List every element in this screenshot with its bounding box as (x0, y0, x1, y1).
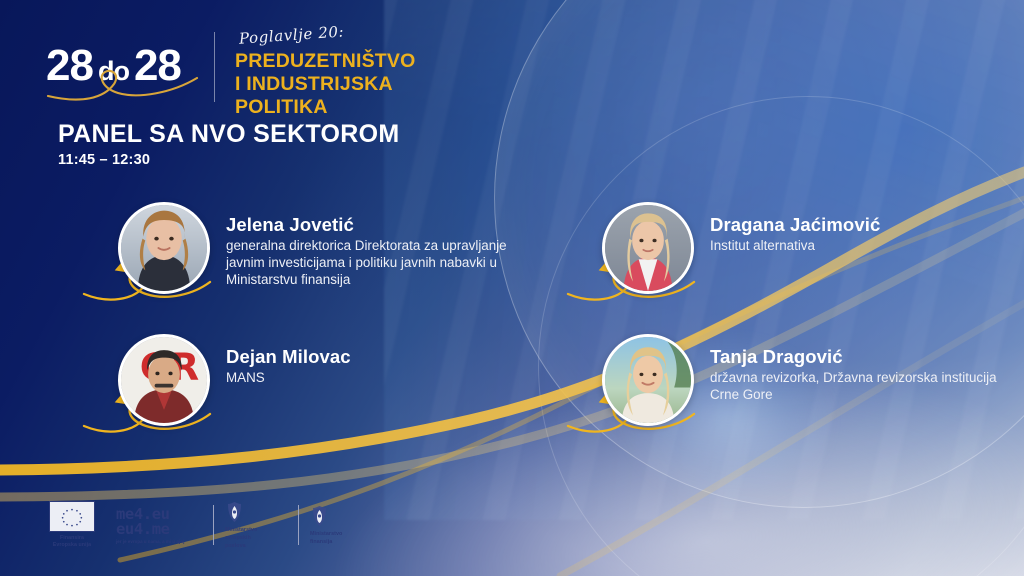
speaker-portrait (605, 337, 691, 423)
speaker-portrait: GR (121, 337, 207, 423)
ministry2-caption: Ministarstvo finansija (310, 530, 342, 546)
chapter-block: Poglavlje 20: PREDUZETNIŠTVO I INDUSTRIJ… (235, 30, 415, 118)
header-divider (214, 32, 215, 102)
speaker-text: Dragana Jaćimović Institut alternativa (694, 202, 880, 254)
eu-funding-logo: Finansira Evropska unija (36, 501, 108, 549)
eu-caption-line-1: Finansira (53, 535, 91, 542)
speaker-portrait (121, 205, 207, 291)
speaker-portrait (605, 205, 691, 291)
avatar: GR (118, 334, 210, 426)
chapter-title-line-3: POLITIKA (235, 96, 415, 119)
speaker-card: Tanja Dragović državna revizorka, Državn… (602, 334, 1024, 426)
panel-title: PANEL SA NVO SEKTOROM (58, 120, 400, 149)
ministry1-line-2: evropskih (225, 534, 257, 542)
me4eu-tagline: jer je evropa u nama, a mi u njoj (116, 539, 202, 544)
avatar-wrap (118, 202, 210, 294)
footer-divider (298, 505, 299, 545)
me4eu-logo: me4.eu eu4.me jer je evropa u nama, a mi… (116, 507, 202, 544)
panel-time: 11:45 – 12:30 (58, 152, 150, 168)
montenegro-crest-icon (226, 501, 243, 523)
speaker-name: Jelena Jovetić (226, 215, 546, 236)
avatar-wrap (602, 334, 694, 426)
ministry2-line-1: Ministarstvo (310, 530, 342, 538)
speaker-role: državna revizorka, Državna revizorska in… (710, 369, 1024, 403)
ministry2-line-2: finansija (310, 538, 342, 546)
speaker-name: Dragana Jaćimović (710, 215, 880, 236)
chapter-title: PREDUZETNIŠTVO I INDUSTRIJSKA POLITIKA (235, 50, 415, 118)
speaker-text: Jelena Jovetić generalna direktorica Dir… (210, 202, 546, 288)
speaker-role: MANS (226, 369, 351, 386)
speaker-role: Institut alternativa (710, 237, 880, 254)
speaker-name: Dejan Milovac (226, 347, 351, 368)
ministry-european-affairs-logo: Ministarstvo evropskih poslova (225, 501, 287, 550)
speaker-role: generalna direktorica Direktorata za upr… (226, 237, 546, 288)
speaker-text: Dejan Milovac MANS (210, 334, 351, 386)
ministry1-caption: Ministarstvo evropskih poslova (225, 526, 257, 550)
ministry-finance-logo: Ministarstvo finansija (310, 505, 372, 546)
logo-swoosh-icon (42, 60, 202, 104)
eu-stars-icon (50, 502, 94, 532)
chapter-title-line-2: I INDUSTRIJSKA (235, 73, 415, 96)
me4eu-line-2: eu4.me (116, 522, 202, 537)
eu-flag-icon (49, 501, 95, 532)
ministry1-line-1: Ministarstvo (225, 526, 257, 534)
logo-28-do-28: 28 do 28 (46, 30, 196, 102)
footer-divider (213, 505, 214, 545)
avatar (602, 334, 694, 426)
slide-header: 28 do 28 Poglavlje 20: PREDUZETNIŠTVO I … (46, 30, 415, 118)
avatar-wrap (602, 202, 694, 294)
ministry1-line-3: poslova (225, 542, 257, 550)
eu-funding-caption: Finansira Evropska unija (53, 535, 91, 549)
eu-caption-line-2: Evropska unija (53, 542, 91, 549)
presentation-slide: 28 do 28 Poglavlje 20: PREDUZETNIŠTVO I … (0, 0, 1024, 576)
montenegro-crest-icon (311, 505, 328, 527)
avatar (118, 202, 210, 294)
chapter-title-line-1: PREDUZETNIŠTVO (235, 50, 415, 73)
avatar-wrap: GR (118, 334, 210, 426)
footer-logos: Finansira Evropska unija me4.eu eu4.me j… (36, 501, 372, 550)
speaker-card: Dragana Jaćimović Institut alternativa (602, 202, 880, 294)
avatar (602, 202, 694, 294)
speaker-name: Tanja Dragović (710, 347, 1024, 368)
speaker-text: Tanja Dragović državna revizorka, Državn… (694, 334, 1024, 403)
speaker-card: Jelena Jovetić generalna direktorica Dir… (118, 202, 546, 294)
speaker-card: GR Dejan Milovac MANS (118, 334, 351, 426)
